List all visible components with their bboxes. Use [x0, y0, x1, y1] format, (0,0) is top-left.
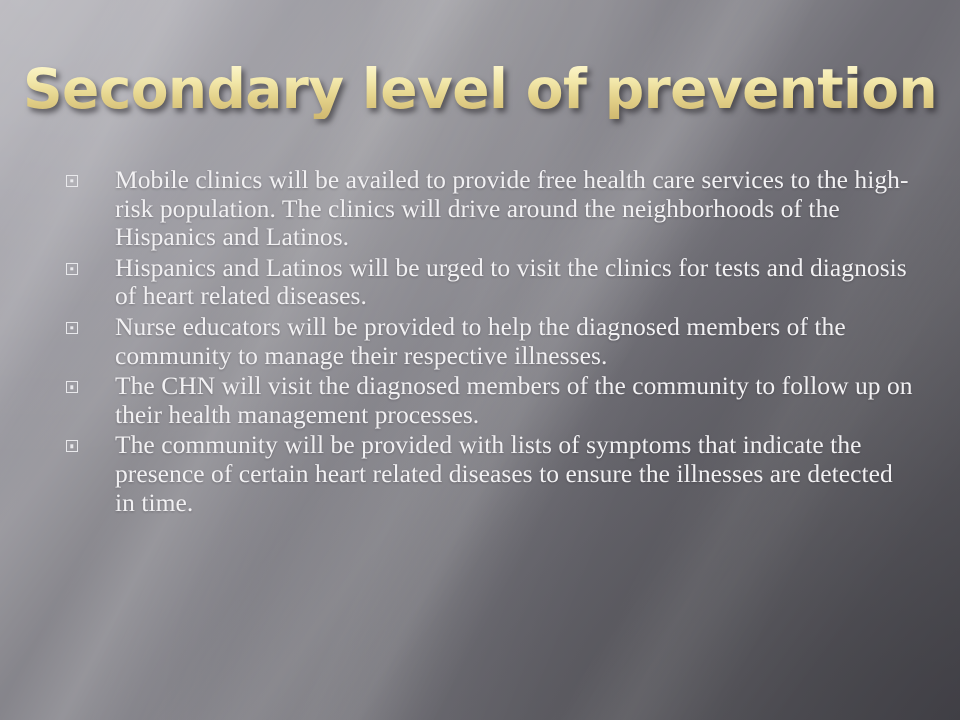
list-item: The community will be provided with list… [66, 431, 914, 517]
list-item-text: Mobile clinics will be availed to provid… [115, 166, 914, 252]
list-item: Mobile clinics will be availed to provid… [66, 166, 914, 252]
square-dot-bullet-icon [66, 263, 78, 275]
square-dot-bullet-icon [66, 381, 78, 393]
list-item: Hispanics and Latinos will be urged to v… [66, 254, 914, 311]
presentation-slide: Secondary level of prevention Mobile cli… [0, 0, 960, 720]
list-item-text: Hispanics and Latinos will be urged to v… [115, 254, 914, 311]
list-item: Nurse educators will be provided to help… [66, 313, 914, 370]
square-dot-bullet-icon [66, 322, 78, 334]
page-title: Secondary level of prevention [23, 61, 937, 118]
content-placeholder: Mobile clinics will be availed to provid… [66, 166, 914, 519]
square-dot-bullet-icon [66, 175, 78, 187]
list-item: The CHN will visit the diagnosed members… [66, 372, 914, 429]
list-item-text: The community will be provided with list… [115, 431, 914, 517]
title-placeholder: Secondary level of prevention [48, 50, 912, 130]
square-dot-bullet-icon [66, 440, 78, 452]
list-item-text: Nurse educators will be provided to help… [115, 313, 914, 370]
list-item-text: The CHN will visit the diagnosed members… [115, 372, 914, 429]
